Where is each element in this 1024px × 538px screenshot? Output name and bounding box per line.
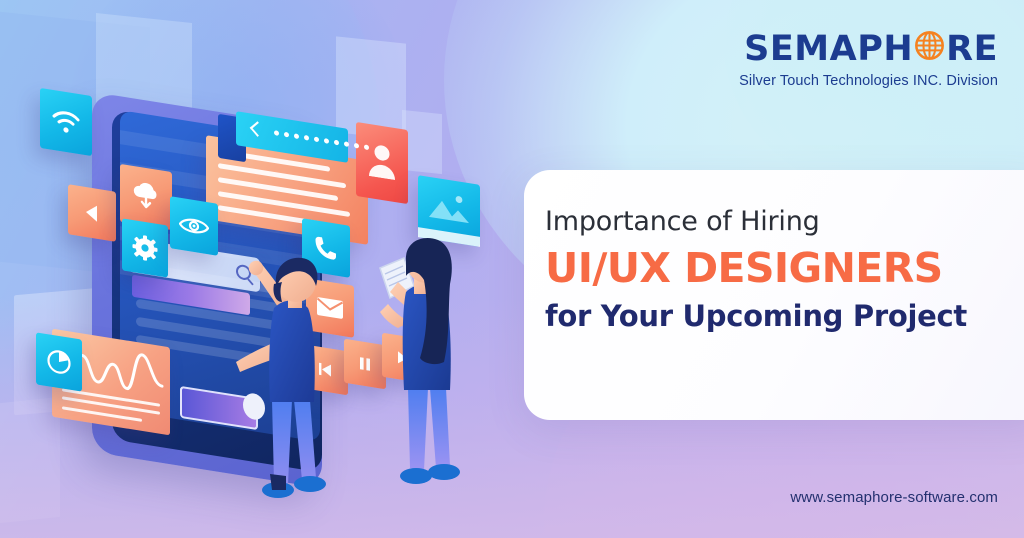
headline-line-3: for Your Upcoming Project: [545, 298, 1015, 334]
logo-text-after-globe: RE: [946, 32, 998, 67]
password-dots: [274, 130, 369, 150]
media-pause-icon: [357, 355, 373, 374]
hero-illustration: [0, 0, 540, 538]
pie-chart-icon: [46, 347, 72, 377]
profile-card: [356, 122, 408, 204]
settings-tile[interactable]: [122, 218, 168, 277]
back-tile[interactable]: [68, 184, 116, 242]
user-icon: [367, 142, 397, 181]
pie-chart-tile[interactable]: [36, 332, 82, 391]
wifi-tile[interactable]: [40, 88, 92, 156]
headline-line-2: UI/UX DESIGNERS: [545, 244, 1015, 292]
person-woman: [378, 232, 488, 504]
logo-text-before-globe: SEMAPH: [744, 32, 913, 67]
chevron-left-icon: [250, 121, 266, 137]
image-icon: [427, 187, 471, 228]
back-arrow-icon: [81, 200, 103, 225]
marketing-banner: Importance of Hiring UI/UX DESIGNERS for…: [0, 0, 1024, 538]
headline-block: Importance of Hiring UI/UX DESIGNERS for…: [545, 205, 1015, 334]
globe-icon: [914, 30, 945, 68]
eye-icon: [179, 215, 209, 238]
headline-line-1: Importance of Hiring: [545, 205, 1015, 239]
logo-wordmark: SEMAPH RE: [739, 30, 998, 68]
brand-logo: SEMAPH RE Silver Touch Technologies INC.…: [739, 30, 998, 89]
website-url[interactable]: www.semaphore-software.com: [790, 489, 998, 506]
gear-icon: [132, 233, 158, 263]
logo-tagline: Silver Touch Technologies INC. Division: [739, 73, 998, 89]
wifi-icon: [51, 108, 81, 137]
person-man: [236, 250, 346, 510]
cloud-download-icon: [131, 181, 161, 214]
preview-tile[interactable]: [170, 196, 218, 256]
